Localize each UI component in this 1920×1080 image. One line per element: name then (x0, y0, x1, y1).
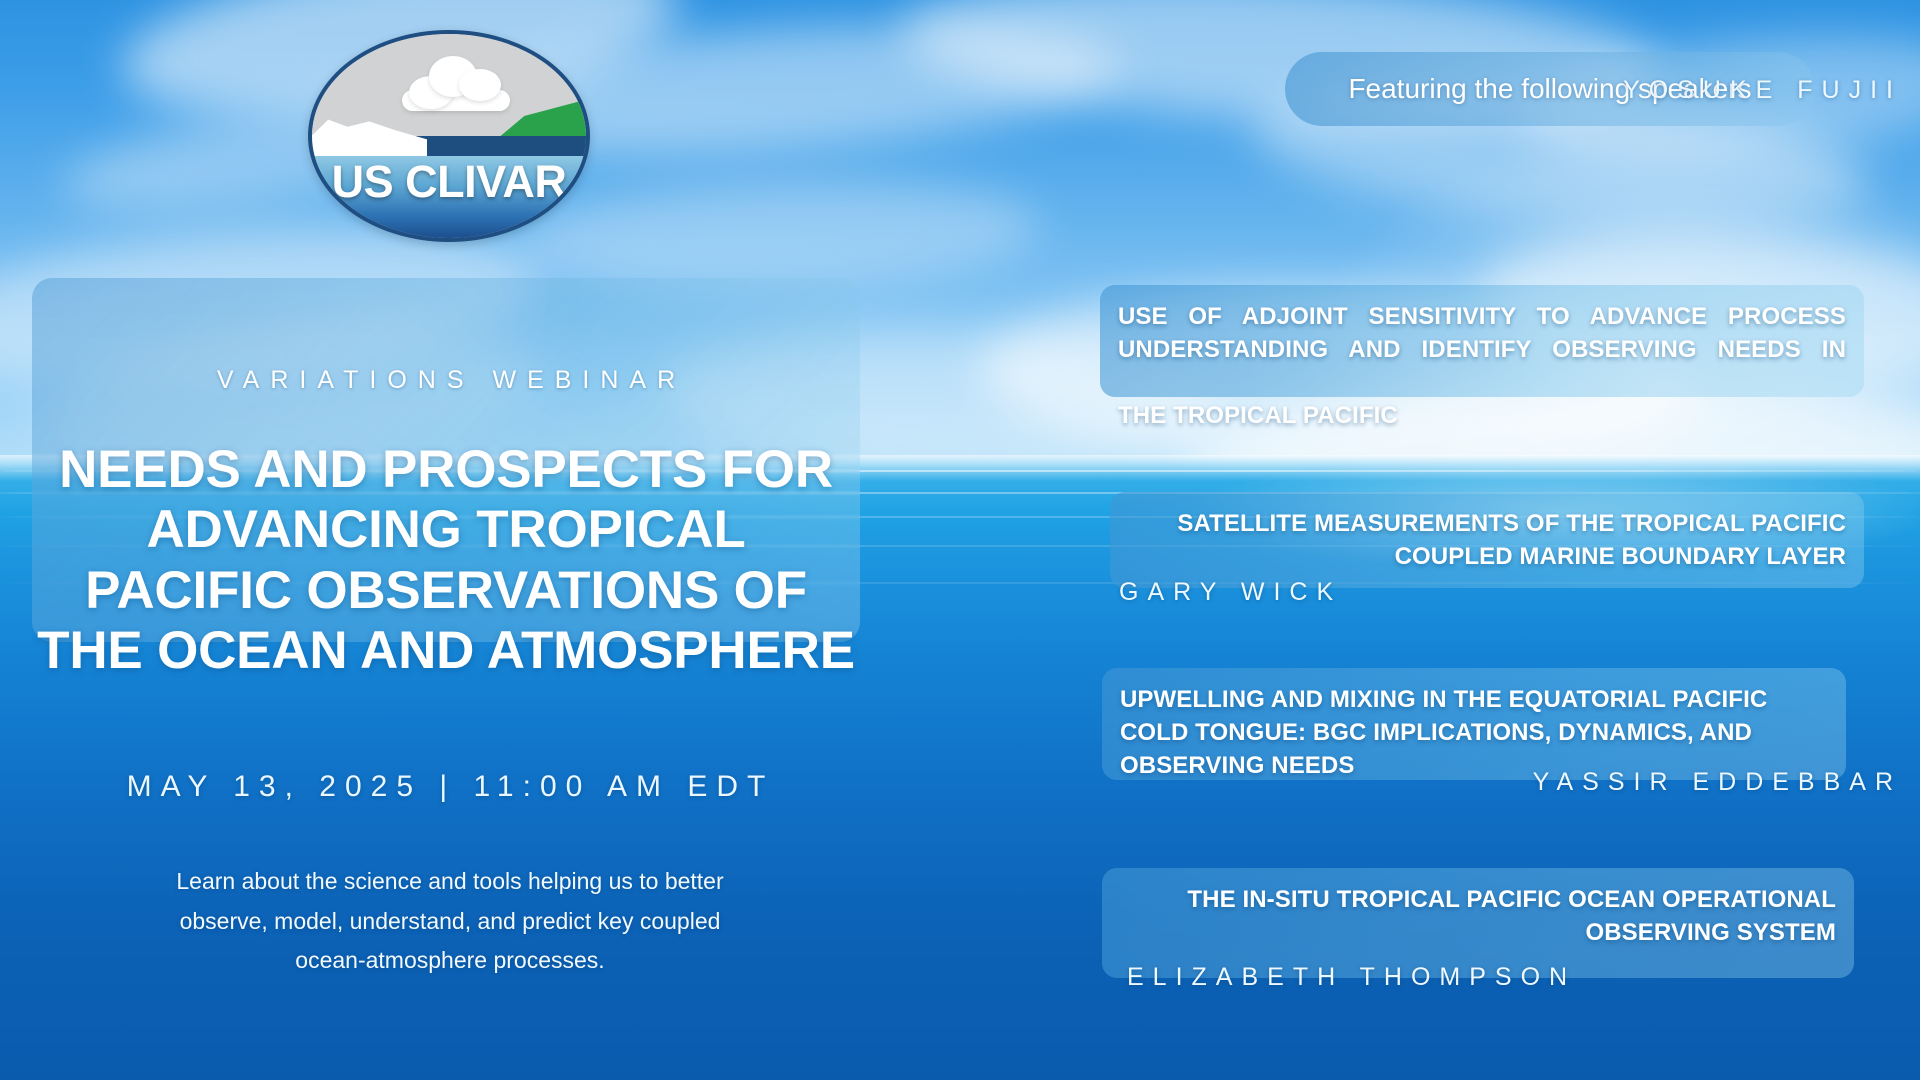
page-title-line: NEEDS AND PROSPECTS FOR (32, 440, 860, 500)
event-description: Learn about the science and tools helpin… (150, 862, 750, 981)
page-title-line: PACIFIC OBSERVATIONS OF (32, 561, 860, 621)
logo-wordmark: US CLIVAR (312, 156, 586, 208)
speaker-card[interactable]: USE OF ADJOINT SENSITIVITY TO ADVANCE PR… (1100, 285, 1864, 397)
speaker-name: YOSUKE FUJII (0, 76, 1902, 105)
event-description-line: Learn about the science and tools helpin… (150, 862, 750, 902)
page-title-line: THE OCEAN AND ATMOSPHERE (32, 621, 860, 681)
event-description-line: observe, model, understand, and predict … (150, 902, 750, 942)
speaker-card[interactable]: SATELLITE MEASUREMENTS OF THE TROPICAL P… (1110, 492, 1864, 588)
speaker-talk-title-tail: THE TROPICAL PACIFIC (1118, 400, 1846, 433)
webinar-kicker: VARIATIONS WEBINAR (32, 366, 860, 395)
speaker-talk-title: SATELLITE MEASUREMENTS OF THE TROPICAL P… (1128, 508, 1846, 574)
logo-ellipse: US CLIVAR (308, 30, 590, 242)
event-description-line: ocean-atmosphere processes. (150, 941, 750, 981)
speaker-card[interactable]: THE IN-SITU TROPICAL PACIFIC OCEAN OPERA… (1102, 868, 1854, 978)
speaker-talk-title: THE IN-SITU TROPICAL PACIFIC OCEAN OPERA… (1120, 884, 1836, 950)
speaker-card[interactable]: UPWELLING AND MIXING IN THE EQUATORIAL P… (1102, 668, 1846, 780)
speaker-talk-title: USE OF ADJOINT SENSITIVITY TO ADVANCE PR… (1118, 301, 1846, 400)
speaker-name: GARY WICK (1110, 578, 1342, 607)
speaker-name: ELIZABETH THOMPSON (1118, 963, 1576, 992)
page-title-line: ADVANCING TROPICAL (32, 500, 860, 560)
us-clivar-logo: US CLIVAR (308, 30, 590, 242)
page-title: NEEDS AND PROSPECTS FOR ADVANCING TROPIC… (32, 440, 860, 682)
speaker-name: YASSIR EDDEBBAR (0, 768, 1902, 797)
